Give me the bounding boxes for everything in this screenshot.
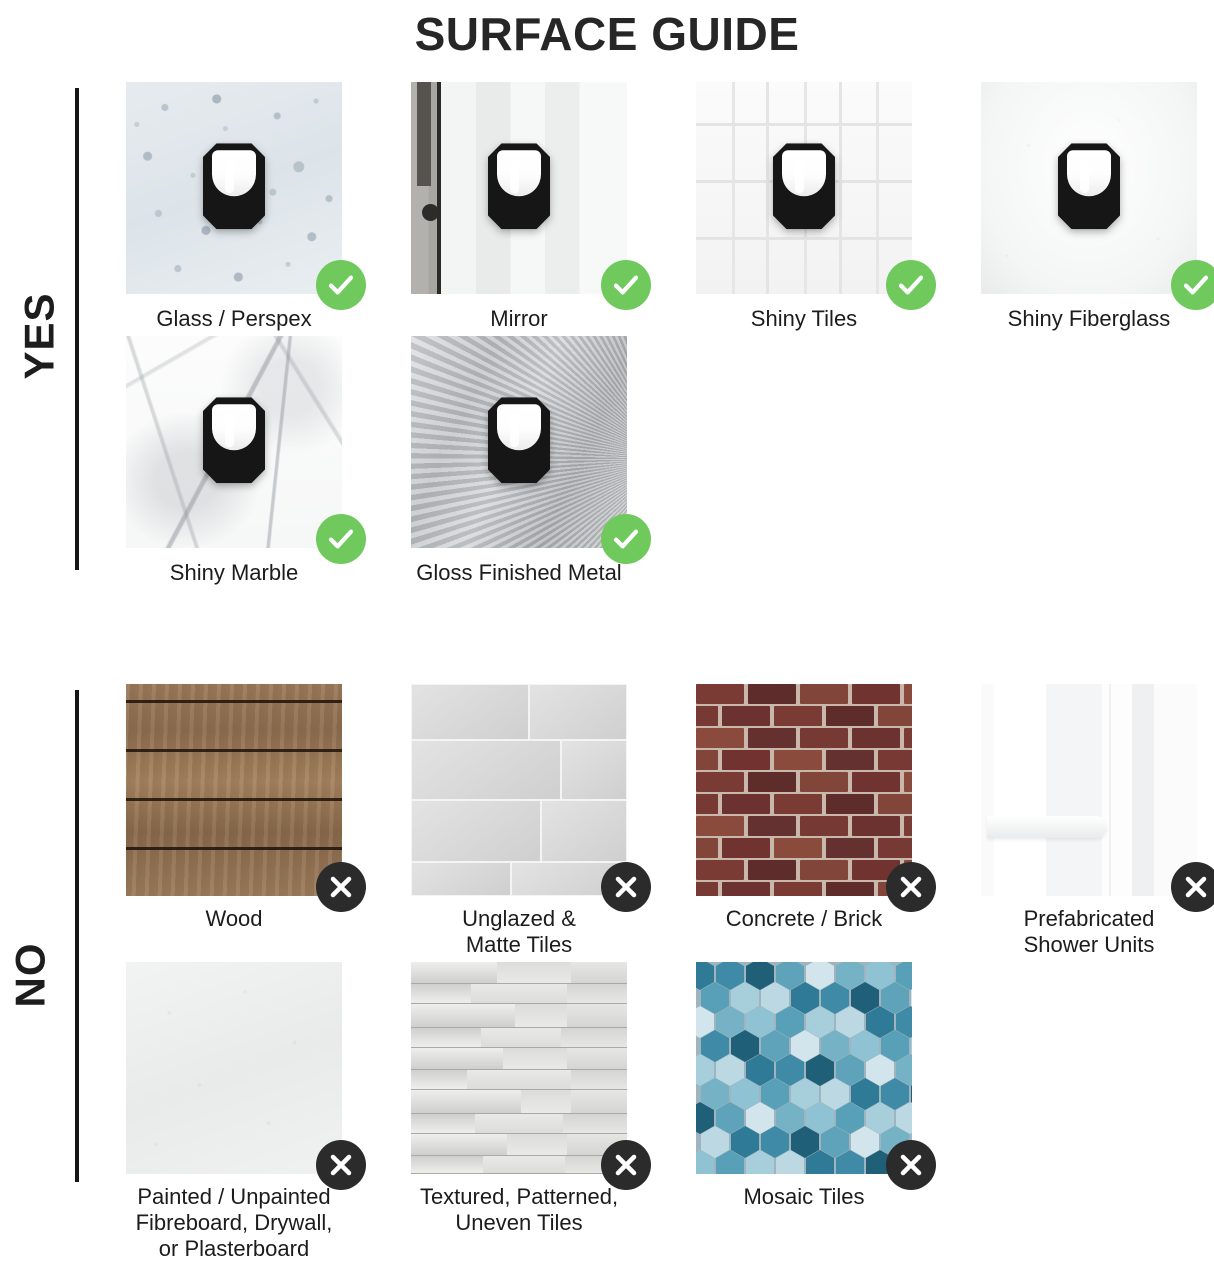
mosaic-texture xyxy=(696,962,912,1174)
surface-label: Gloss Finished Metal xyxy=(411,560,627,586)
surface-guide-sections: YESGlass / PerspexMirrorShiny TilesShiny… xyxy=(0,82,1214,1266)
adhesive-hook-product xyxy=(1058,143,1120,229)
axis-label-no: NO xyxy=(7,943,55,1008)
x-icon xyxy=(895,871,927,903)
surface-card[interactable]: Glass / Perspex xyxy=(126,82,411,336)
check-icon xyxy=(610,269,642,301)
surface-card[interactable]: Wood xyxy=(126,684,411,962)
surface-label: Shiny Tiles xyxy=(696,306,912,332)
brick-unit xyxy=(722,838,770,858)
stone-slat xyxy=(567,984,627,1004)
brick-unit xyxy=(748,860,796,880)
stone-slat xyxy=(521,1090,571,1114)
shower-panel-seam xyxy=(1109,684,1111,896)
surface-thumbnail xyxy=(696,684,912,896)
matte-tile xyxy=(411,800,541,862)
brick-unit xyxy=(904,684,912,704)
hook-white-insert xyxy=(212,150,256,196)
stone-slat xyxy=(411,1156,483,1174)
hook-white-insert xyxy=(782,150,826,196)
axis-label-yes: YES xyxy=(16,292,64,379)
x-icon xyxy=(325,1149,357,1181)
surface-card[interactable]: Shiny Tiles xyxy=(696,82,981,336)
brick-unit xyxy=(774,794,822,814)
surface-image xyxy=(411,82,627,294)
hook-highlight xyxy=(1080,159,1089,193)
brick-unit xyxy=(696,706,718,726)
stone-texture xyxy=(411,962,627,1174)
brick-unit xyxy=(696,882,718,896)
hook-highlight xyxy=(510,159,519,193)
hook-highlight xyxy=(225,159,234,193)
brick-unit xyxy=(800,816,848,836)
x-icon xyxy=(610,1149,642,1181)
drywall-texture xyxy=(126,962,342,1174)
stone-slat xyxy=(411,1090,521,1114)
stone-slat xyxy=(563,1114,627,1134)
approved-badge xyxy=(1171,260,1214,310)
brick-unit xyxy=(800,684,848,704)
approved-badge xyxy=(601,514,651,564)
surface-thumbnail xyxy=(696,962,912,1174)
surface-image xyxy=(696,82,912,294)
matte-tile xyxy=(411,862,511,896)
brick-unit xyxy=(826,750,874,770)
rejected-badge xyxy=(886,1140,936,1190)
brick-unit xyxy=(722,750,770,770)
surface-image xyxy=(411,336,627,548)
surface-thumbnail xyxy=(126,82,342,294)
brick-unit xyxy=(904,816,912,836)
brick-unit xyxy=(696,816,744,836)
brick-unit xyxy=(878,794,912,814)
stone-slat xyxy=(411,1048,503,1070)
brick-unit xyxy=(800,772,848,792)
surface-card[interactable]: Shiny Fiberglass xyxy=(981,82,1214,336)
page-title: SURFACE GUIDE xyxy=(0,0,1214,66)
surface-thumbnail xyxy=(696,82,912,294)
stone-slat xyxy=(475,1114,563,1134)
rejected-badge xyxy=(886,862,936,912)
surface-thumbnail xyxy=(411,336,627,548)
surface-image xyxy=(411,684,627,896)
x-icon xyxy=(610,871,642,903)
surface-grid-no: WoodUnglazed & Matte TilesConcrete / Bri… xyxy=(126,684,1214,1266)
brick-unit xyxy=(696,794,718,814)
surface-label: Prefabricated Shower Units xyxy=(981,906,1197,958)
x-icon xyxy=(325,871,357,903)
brick-unit xyxy=(696,750,718,770)
surface-label: Glass / Perspex xyxy=(126,306,342,332)
stone-slat xyxy=(467,1070,571,1090)
brick-unit xyxy=(852,728,900,748)
brick-unit xyxy=(748,772,796,792)
stone-slat xyxy=(483,1156,565,1174)
surface-image xyxy=(126,336,342,548)
surface-thumbnail xyxy=(981,82,1197,294)
surface-card[interactable]: Textured, Patterned, Uneven Tiles xyxy=(411,962,696,1266)
brick-unit xyxy=(722,706,770,726)
x-icon xyxy=(895,1149,927,1181)
surface-label: Mosaic Tiles xyxy=(696,1184,912,1210)
matte-tile xyxy=(561,740,627,800)
rejected-badge xyxy=(601,862,651,912)
surface-label: Shiny Marble xyxy=(126,560,342,586)
brick-unit xyxy=(826,706,874,726)
surface-label: Painted / Unpainted Fibreboard, Drywall,… xyxy=(126,1184,342,1262)
brick-unit xyxy=(774,750,822,770)
surface-card[interactable]: Mirror xyxy=(411,82,696,336)
matte-tile xyxy=(529,684,627,740)
rejected-badge xyxy=(1171,862,1214,912)
brick-unit xyxy=(774,706,822,726)
brick-unit xyxy=(774,882,822,896)
approved-badge xyxy=(316,260,366,310)
brick-unit xyxy=(800,860,848,880)
stone-slat xyxy=(567,1048,627,1070)
surface-grid-yes: Glass / PerspexMirrorShiny TilesShiny Fi… xyxy=(126,82,1214,590)
mirror-frame-edge xyxy=(417,82,431,186)
brick-unit xyxy=(878,838,912,858)
surface-image xyxy=(696,684,912,896)
axis-yes: YES xyxy=(0,82,126,590)
shower-texture xyxy=(981,684,1197,896)
brick-unit xyxy=(722,794,770,814)
stone-slat xyxy=(561,1028,627,1048)
section-no: NOWoodUnglazed & Matte TilesConcrete / B… xyxy=(0,684,1214,1266)
surface-label: Shiny Fiberglass xyxy=(981,306,1197,332)
stone-slat xyxy=(411,962,497,984)
surface-card[interactable]: Prefabricated Shower Units xyxy=(981,684,1214,962)
surface-thumbnail xyxy=(126,962,342,1174)
adhesive-hook-product xyxy=(773,143,835,229)
stone-slat xyxy=(571,962,627,984)
surface-image xyxy=(696,962,912,1174)
surface-thumbnail xyxy=(411,684,627,896)
stone-slat xyxy=(497,962,571,984)
brick-unit xyxy=(826,882,874,896)
rejected-badge xyxy=(316,1140,366,1190)
section-divider-rule xyxy=(75,88,79,570)
surface-card[interactable]: Concrete / Brick xyxy=(696,684,981,962)
check-icon xyxy=(610,523,642,555)
stone-slat xyxy=(411,984,471,1004)
brick-unit xyxy=(826,794,874,814)
brick-unit xyxy=(852,772,900,792)
stone-slat xyxy=(571,1090,627,1114)
surface-label: Concrete / Brick xyxy=(696,906,912,932)
surface-label: Unglazed & Matte Tiles xyxy=(411,906,627,958)
brick-unit xyxy=(904,772,912,792)
brick-unit xyxy=(748,684,796,704)
matte-tile xyxy=(541,800,627,862)
matte-tile xyxy=(411,740,561,800)
stone-slat xyxy=(571,1070,627,1090)
stone-slat xyxy=(515,1004,567,1028)
check-icon xyxy=(325,523,357,555)
section-yes: YESGlass / PerspexMirrorShiny TilesShiny… xyxy=(0,82,1214,590)
surface-image xyxy=(126,962,342,1174)
surface-image xyxy=(981,82,1197,294)
adhesive-hook-product xyxy=(203,397,265,483)
surface-thumbnail xyxy=(126,336,342,548)
stone-slat xyxy=(411,1070,467,1090)
wood-texture xyxy=(126,684,342,896)
check-icon xyxy=(325,269,357,301)
check-icon xyxy=(1180,269,1212,301)
surface-label: Wood xyxy=(126,906,342,932)
brick-unit xyxy=(722,882,770,896)
brick-unit xyxy=(852,816,900,836)
brick-unit xyxy=(696,838,718,858)
surface-image xyxy=(126,684,342,896)
surface-card[interactable]: Painted / Unpainted Fibreboard, Drywall,… xyxy=(126,962,411,1266)
surface-card[interactable]: Unglazed & Matte Tiles xyxy=(411,684,696,962)
brick-unit xyxy=(826,838,874,858)
brick-unit xyxy=(696,684,744,704)
brick-unit xyxy=(878,750,912,770)
hook-highlight xyxy=(510,413,519,447)
surface-thumbnail xyxy=(411,962,627,1174)
matte-texture xyxy=(411,684,627,896)
stone-slat xyxy=(411,1114,475,1134)
section-divider-rule xyxy=(75,690,79,1182)
rejected-badge xyxy=(601,1140,651,1190)
surface-label: Mirror xyxy=(411,306,627,332)
adhesive-hook-product xyxy=(203,143,265,229)
brick-unit xyxy=(774,838,822,858)
surface-image xyxy=(411,962,627,1174)
surface-thumbnail xyxy=(981,684,1197,896)
adhesive-hook-product xyxy=(488,143,550,229)
door-knob-icon xyxy=(422,204,439,221)
surface-card[interactable]: Mosaic Tiles xyxy=(696,962,981,1266)
approved-badge xyxy=(601,260,651,310)
surface-thumbnail xyxy=(126,684,342,896)
hook-highlight xyxy=(795,159,804,193)
axis-no: NO xyxy=(0,684,126,1266)
approved-badge xyxy=(886,260,936,310)
brick-unit xyxy=(696,728,744,748)
x-icon xyxy=(1180,871,1212,903)
stone-slat xyxy=(507,1134,567,1156)
stone-slat xyxy=(503,1048,567,1070)
surface-label: Textured, Patterned, Uneven Tiles xyxy=(411,1184,627,1236)
hook-white-insert xyxy=(497,150,541,196)
adhesive-hook-product xyxy=(488,397,550,483)
brick-unit xyxy=(852,684,900,704)
surface-thumbnail xyxy=(411,82,627,294)
brick-unit xyxy=(800,728,848,748)
surface-card[interactable]: Shiny Marble xyxy=(126,336,411,590)
brick-unit xyxy=(904,728,912,748)
rejected-badge xyxy=(316,862,366,912)
hook-white-insert xyxy=(1067,150,1111,196)
approved-badge xyxy=(316,514,366,564)
brick-unit xyxy=(696,860,744,880)
hook-highlight xyxy=(225,413,234,447)
stone-slat xyxy=(471,984,567,1004)
stone-slat xyxy=(411,1134,507,1156)
hook-white-insert xyxy=(212,404,256,450)
brick-unit xyxy=(748,728,796,748)
stone-slat xyxy=(481,1028,561,1048)
check-icon xyxy=(895,269,927,301)
brick-texture xyxy=(696,684,912,896)
stone-slat xyxy=(411,1028,481,1048)
brick-unit xyxy=(696,772,744,792)
surface-card[interactable]: Gloss Finished Metal xyxy=(411,336,696,590)
hook-white-insert xyxy=(497,404,541,450)
stone-slat xyxy=(567,1004,627,1028)
surface-image xyxy=(981,684,1197,896)
stone-slat xyxy=(411,1004,515,1028)
brick-unit xyxy=(748,816,796,836)
brick-unit xyxy=(878,706,912,726)
shower-shelf xyxy=(987,816,1107,838)
matte-tile xyxy=(411,684,529,740)
surface-image xyxy=(126,82,342,294)
